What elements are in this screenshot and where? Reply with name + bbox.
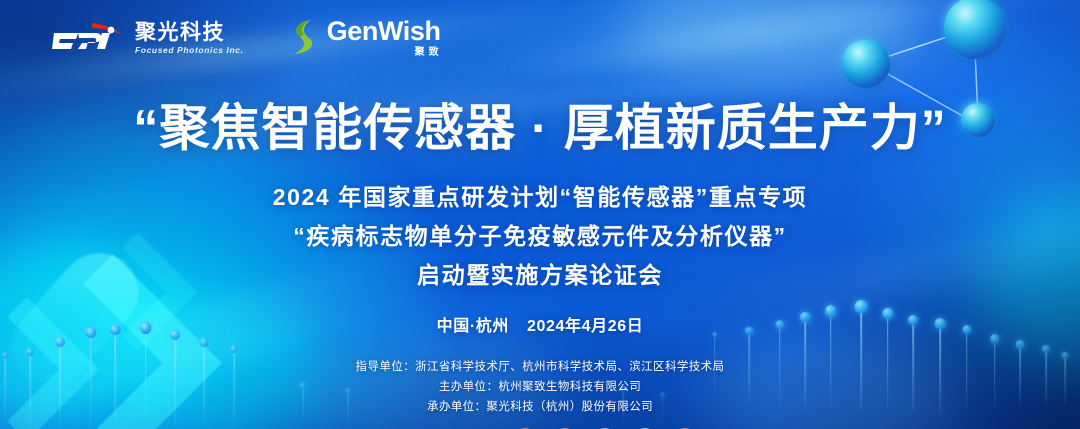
main-title: “聚焦智能传感器 · 厚植新质生产力” [133, 88, 946, 160]
guidance-units: 指导单位：浙江省科学技术厅、杭州市科学技术局、滨江区科学技术局 [356, 358, 725, 374]
undertaking-unit: 承办单位：聚光科技（杭州）股份有限公司 [427, 398, 653, 414]
organizer-block: 指导单位：浙江省科学技术厅、杭州市科学技术局、滨江区科学技术局 主办单位：杭州聚… [356, 358, 725, 429]
event-location: 中国·杭州 [437, 312, 509, 336]
event-banner: 聚光科技 Focused Photonics Inc. GenWish 聚致 “… [0, 0, 1080, 429]
event-date: 2024年4月26日 [527, 312, 643, 336]
host-unit: 主办单位：杭州聚致生物科技有限公司 [439, 378, 641, 394]
subtitle-line-2: “疾病标志物单分子免疫敏感元件及分析仪器” [293, 217, 787, 251]
banner-content: “聚焦智能传感器 · 厚植新质生产力” 2024 年国家重点研发计划“智能传感器… [0, 0, 1080, 429]
subtitle-line-3: 启动暨实施方案论证会 [417, 256, 663, 290]
subtitle-line-1: 2024 年国家重点研发计划“智能传感器”重点专项 [273, 178, 808, 212]
event-meta: 中国·杭州 2024年4月26日 [437, 312, 644, 336]
